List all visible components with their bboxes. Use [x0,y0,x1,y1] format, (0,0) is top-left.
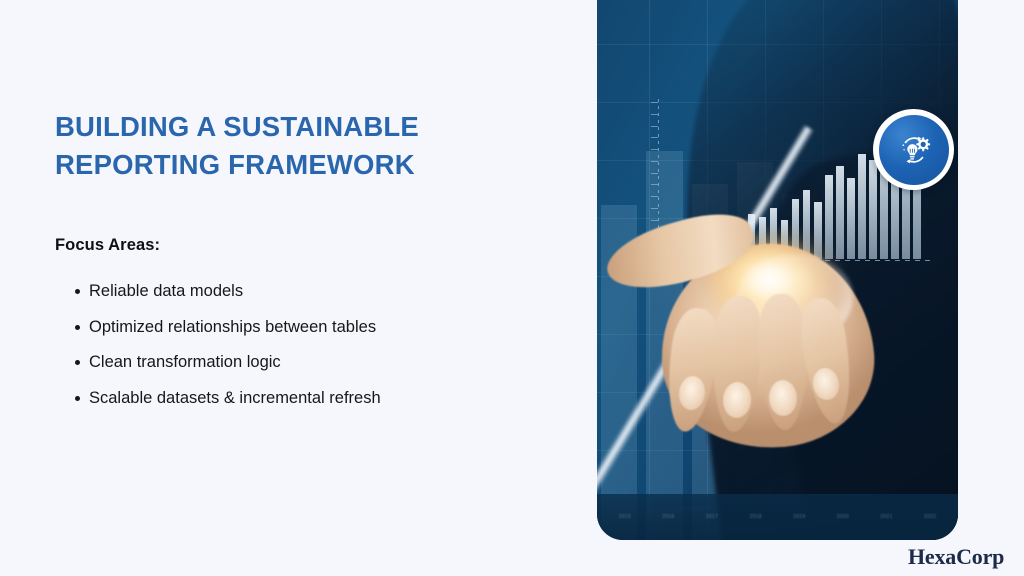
chart-x-axis-strip: 20152016201720182019202020212022 [597,494,958,540]
chart-y-tick [651,114,658,115]
chart-y-tick [651,149,658,150]
chart-y-tick [651,126,658,127]
innovation-lightbulb-gear-icon [879,115,949,185]
chart-y-tick [651,196,658,197]
chart-y-tick [651,102,658,103]
chart-y-tick [651,173,658,174]
chart-y-tick [651,137,658,138]
chart-x-tick-label: 2021 [865,514,909,520]
chart-x-tick-label: 2018 [734,514,778,520]
chart-x-tick-label: 2016 [647,514,691,520]
chart-y-tick [651,161,658,162]
chart-y-tick [651,184,658,185]
list-item: Optimized relationships between tables [55,316,555,339]
list-item: Clean transformation logic [55,351,555,374]
hexacorp-logo: HexaCorp [908,544,1004,570]
page-title-line-1: BUILDING A SUSTAINABLE [55,108,555,146]
chart-x-tick-label: 2019 [778,514,822,520]
content-column: BUILDING A SUSTAINABLE REPORTING FRAMEWO… [55,108,555,423]
chart-x-tick-label: 2020 [821,514,865,520]
list-item: Reliable data models [55,280,555,303]
open-hand [609,200,909,530]
focus-areas-label: Focus Areas: [55,236,555,255]
chart-x-tick-label: 2017 [690,514,734,520]
page-title: BUILDING A SUSTAINABLE REPORTING FRAMEWO… [55,108,555,184]
focus-areas-list: Reliable data models Optimized relations… [55,280,555,410]
chart-x-tick-label: 2022 [908,514,952,520]
slide-canvas: BUILDING A SUSTAINABLE REPORTING FRAMEWO… [0,0,1024,576]
page-title-line-2: REPORTING FRAMEWORK [55,146,555,184]
hero-image-panel: 20152016201720182019202020212022 [597,0,958,540]
list-item: Scalable datasets & incremental refresh [55,387,555,410]
innovation-badge [873,109,954,190]
chart-x-tick-label: 2015 [603,514,647,520]
